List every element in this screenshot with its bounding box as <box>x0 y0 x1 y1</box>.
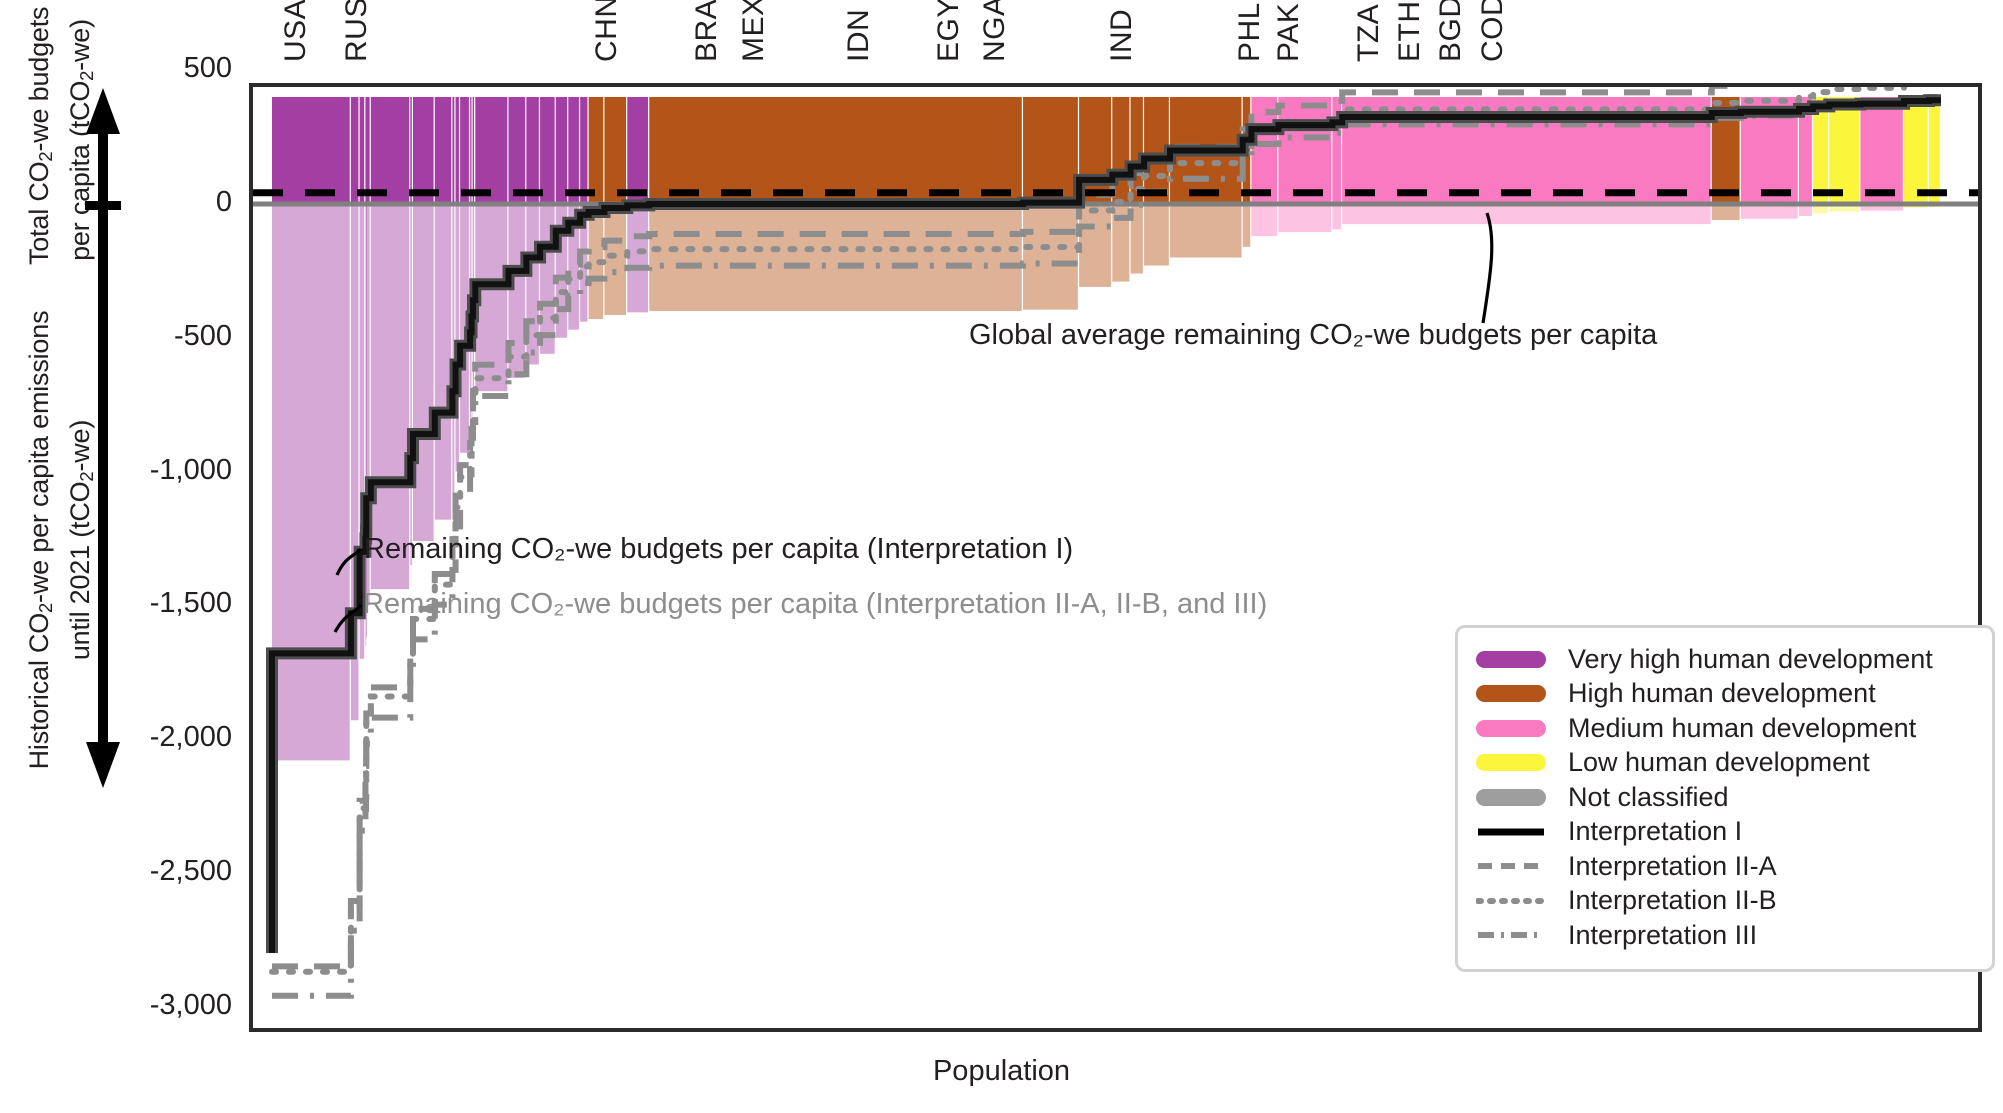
country-label-ind: IND <box>1105 9 1139 62</box>
country-label-usa: USA <box>279 0 313 62</box>
bar-budget <box>272 97 350 204</box>
y-tick-label: -1,500 <box>150 587 232 620</box>
y-tick-label: -2,000 <box>150 721 232 754</box>
bar-historical <box>604 204 626 315</box>
bar-budget <box>1829 97 1859 204</box>
country-label-bgd: BGD <box>1434 0 1468 62</box>
legend-item-1[interactable]: High human development <box>1476 677 1974 712</box>
bar-budget <box>410 97 412 204</box>
bar-budget <box>580 97 587 204</box>
bar-budget <box>456 97 459 204</box>
country-label-eth: ETH <box>1393 1 1427 63</box>
bar-historical <box>272 204 350 760</box>
bar-budget <box>360 97 365 204</box>
legend-label: Interpretation II-B <box>1554 885 1777 916</box>
bar-historical <box>1342 204 1710 224</box>
y-axis-direction-arrow <box>85 88 121 788</box>
bar-historical <box>435 204 451 520</box>
x-axis-title: Population <box>0 1055 2003 1088</box>
bar-budget <box>371 97 409 204</box>
bar-budget <box>1904 97 1928 204</box>
bar-historical <box>1243 204 1251 247</box>
bar-budget <box>649 97 1022 204</box>
bar-historical <box>413 204 434 541</box>
bar-budget <box>556 97 567 204</box>
country-label-chn: CHN <box>590 0 624 62</box>
bar-historical <box>649 204 1022 311</box>
bar-budget <box>1278 97 1331 204</box>
y-tick-label: 0 <box>216 186 232 219</box>
bar-historical <box>1170 204 1241 258</box>
bar-historical <box>1144 204 1169 266</box>
legend-item-6[interactable]: Interpretation II-A <box>1476 849 1974 884</box>
bar-budget <box>526 97 539 204</box>
global-average-annotation: Global average remaining CO₂-we budgets … <box>969 319 1657 352</box>
legend-key <box>1476 685 1554 702</box>
legend-item-3[interactable]: Low human development <box>1476 746 1974 781</box>
country-label-rus: RUS <box>340 0 374 62</box>
bar-budget <box>1929 97 1940 204</box>
bar-budget <box>589 97 604 204</box>
y-tick-label: -3,000 <box>150 989 232 1022</box>
bar-budget <box>351 97 359 204</box>
legend-line-icon <box>1476 927 1546 943</box>
legend-label: Interpretation III <box>1554 920 1757 951</box>
y-axis-title-upper-l1: Total CO2-we budgets <box>24 7 54 265</box>
legend-key <box>1476 720 1554 737</box>
country-label-mex: MEX <box>737 0 771 62</box>
legend-label: Not classified <box>1554 782 1729 813</box>
bar-budget <box>472 97 473 204</box>
bar-budget <box>1860 97 1902 204</box>
country-label-bra: BRA <box>690 0 724 62</box>
bar-budget <box>604 97 626 204</box>
legend-item-5[interactable]: Interpretation I <box>1476 815 1974 850</box>
bar-budget <box>435 97 451 204</box>
bar-historical <box>1079 204 1111 287</box>
country-label-pak: PAK <box>1272 3 1306 62</box>
bar-budget <box>460 97 469 204</box>
bar-budget <box>452 97 454 204</box>
legend-key <box>1476 927 1554 943</box>
bar-budget <box>413 97 434 204</box>
legend-label: High human development <box>1554 678 1876 709</box>
country-label-egy: EGY <box>932 0 966 62</box>
legend-key <box>1476 789 1554 806</box>
bar-budget <box>470 97 471 204</box>
country-label-tza: TZA <box>1352 4 1386 62</box>
interpretation-1-annotation: Remaining CO₂-we budgets per capita (Int… <box>364 533 1073 566</box>
country-label-nga: NGA <box>978 0 1012 62</box>
legend-swatch-icon <box>1476 754 1546 771</box>
legend-label: Interpretation II-A <box>1554 851 1777 882</box>
legend-key <box>1476 651 1554 668</box>
legend-item-2[interactable]: Medium human development <box>1476 711 1974 746</box>
legend-key <box>1476 893 1554 909</box>
country-label-idn: IDN <box>842 9 876 62</box>
bar-budget <box>568 97 579 204</box>
bar-budget <box>540 97 555 204</box>
bar-historical <box>1251 204 1277 236</box>
bar-budget <box>627 97 648 204</box>
bar-historical <box>371 204 409 589</box>
chart-legend: Very high human developmentHigh human de… <box>1455 625 1995 972</box>
bar-budget <box>366 97 369 204</box>
legend-swatch-icon <box>1476 685 1546 702</box>
y-tick-label: 500 <box>184 52 232 85</box>
bar-historical <box>456 204 459 472</box>
bar-historical <box>452 204 454 498</box>
country-label-phl: PHL <box>1233 2 1267 62</box>
bar-budget <box>1023 97 1078 204</box>
interpretation-23-annotation: Remaining CO₂-we budgets per capita (Int… <box>363 588 1267 621</box>
legend-label: Low human development <box>1554 747 1870 778</box>
legend-item-7[interactable]: Interpretation II-B <box>1476 884 1974 919</box>
bar-historical <box>1023 204 1078 310</box>
y-axis-title-lower-l1: Historical CO2-we per capita emissions <box>24 311 54 770</box>
legend-label: Interpretation I <box>1554 816 1742 847</box>
country-label-cod: COD <box>1476 0 1510 62</box>
bar-historical <box>1278 204 1331 232</box>
legend-item-0[interactable]: Very high human development <box>1476 642 1974 677</box>
legend-line-icon <box>1476 824 1546 840</box>
bar-budget <box>509 97 526 204</box>
legend-label: Medium human development <box>1554 713 1916 744</box>
y-tick-label: -500 <box>174 320 232 353</box>
bar-budget <box>475 97 507 204</box>
bar-historical <box>1332 204 1341 229</box>
bar-historical <box>410 204 412 565</box>
legend-swatch-icon <box>1476 720 1546 737</box>
legend-key <box>1476 824 1554 840</box>
legend-label: Very high human development <box>1554 644 1933 675</box>
legend-key <box>1476 858 1554 874</box>
bar-historical <box>627 204 648 312</box>
legend-swatch-icon <box>1476 651 1546 668</box>
legend-key <box>1476 754 1554 771</box>
legend-swatch-icon <box>1476 789 1546 806</box>
bar-budget <box>473 97 474 204</box>
legend-line-icon <box>1476 893 1546 909</box>
y-tick-label: -1,000 <box>150 454 232 487</box>
legend-line-icon <box>1476 858 1546 874</box>
y-tick-label: -2,500 <box>150 855 232 888</box>
legend-item-4[interactable]: Not classified <box>1476 780 1974 815</box>
legend-item-8[interactable]: Interpretation III <box>1476 918 1974 953</box>
